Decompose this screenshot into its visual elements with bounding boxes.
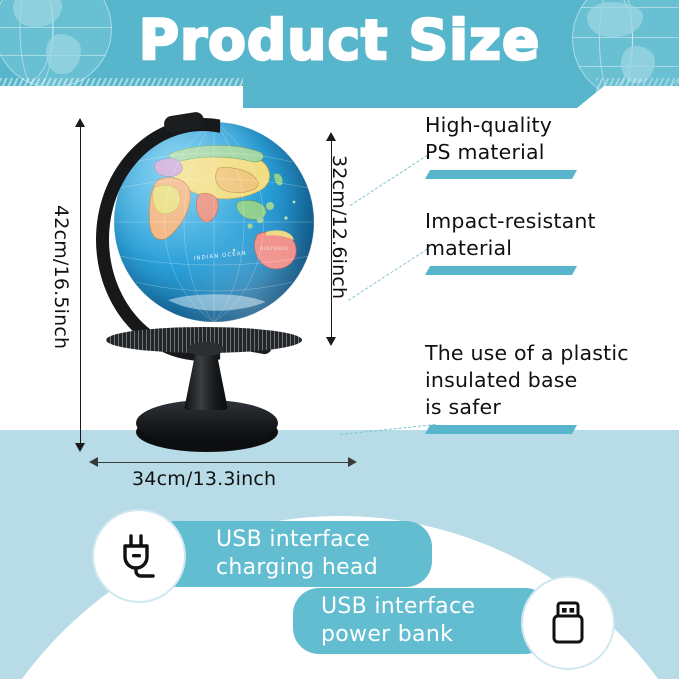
feature-3-text: The use of a plastic insulated base is s… — [425, 340, 675, 421]
globe-stand-cap — [188, 342, 224, 356]
feature-1-underline — [425, 170, 577, 179]
usb-flash-drive-icon — [543, 598, 593, 648]
leader-line-2 — [348, 249, 427, 301]
arrow-right-icon — [348, 457, 357, 467]
header-hatch-strip-left — [0, 78, 243, 94]
arrow-left-icon — [89, 457, 98, 467]
product-size-infographic: Product Size 42cm/16.5inch 32cm/12.6inch… — [0, 0, 679, 679]
globe-product-image: INDIAN OCEAN AUSTRALIA — [92, 112, 322, 452]
dimension-total-height-line — [80, 127, 81, 443]
leader-line-1 — [350, 155, 428, 206]
badge-power-bank-circle — [521, 576, 615, 670]
badge-charging-head-text: USB interface charging head — [216, 526, 378, 582]
header-hatch-strip-right — [596, 78, 679, 94]
arrow-down-icon — [75, 443, 85, 452]
feature-1: High-quality PS material — [425, 112, 675, 179]
dimension-base-width-line — [98, 462, 348, 463]
feature-2-text: Impact-resistant material — [425, 208, 675, 262]
badge-charging-head-circle — [92, 509, 186, 603]
power-plug-icon — [113, 530, 165, 582]
feature-3-underline — [425, 425, 577, 434]
badge-power-bank-text: USB interface power bank — [321, 593, 475, 649]
page-title: Product Size — [0, 8, 679, 72]
feature-2-underline — [425, 266, 577, 275]
arrow-up-icon — [75, 118, 85, 127]
header-banner: Product Size — [0, 0, 679, 108]
dimension-total-height-label: 42cm/16.5inch — [50, 205, 72, 349]
dimension-base-width-label: 34cm/13.3inch — [132, 468, 276, 490]
feature-1-text: High-quality PS material — [425, 112, 675, 166]
badge-charging-head-pill: USB interface charging head — [150, 521, 432, 587]
feature-2: Impact-resistant material — [425, 208, 675, 275]
arrow-up-icon — [326, 132, 336, 141]
badge-power-bank-pill: USB interface power bank — [293, 588, 551, 654]
arrow-down-icon — [326, 337, 336, 346]
feature-3: The use of a plastic insulated base is s… — [425, 340, 675, 434]
dimension-globe-height-label: 32cm/12.6inch — [328, 155, 350, 299]
